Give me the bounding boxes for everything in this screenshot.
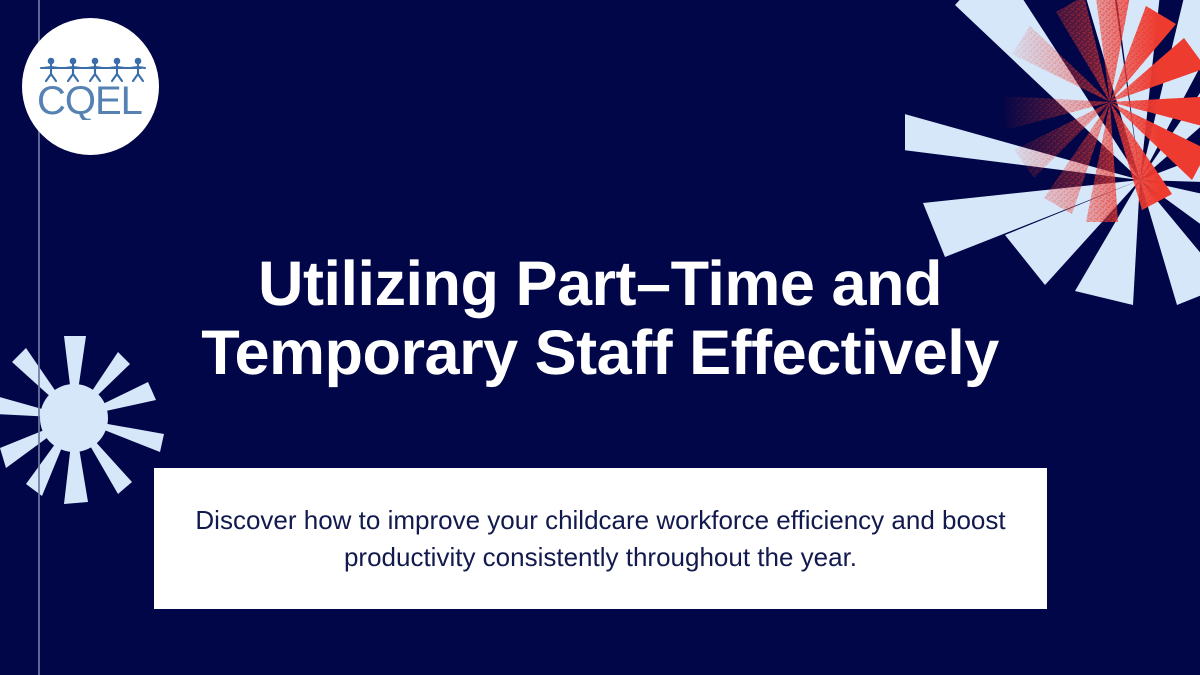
- subtitle-text: Discover how to improve your childcare w…: [195, 502, 1005, 576]
- cqel-logo[interactable]: CQEL: [22, 18, 159, 155]
- title-slide: CQEL Utilizing Part–Time and Temporary S…: [0, 0, 1200, 675]
- cqel-wordmark: CQEL: [37, 79, 142, 120]
- starburst-top-right-red-icon: [1000, 0, 1200, 230]
- subtitle-card: Discover how to improve your childcare w…: [154, 468, 1047, 609]
- page-title: Utilizing Part–Time and Temporary Staff …: [0, 250, 1200, 387]
- cqel-logo-icon: CQEL: [35, 54, 147, 120]
